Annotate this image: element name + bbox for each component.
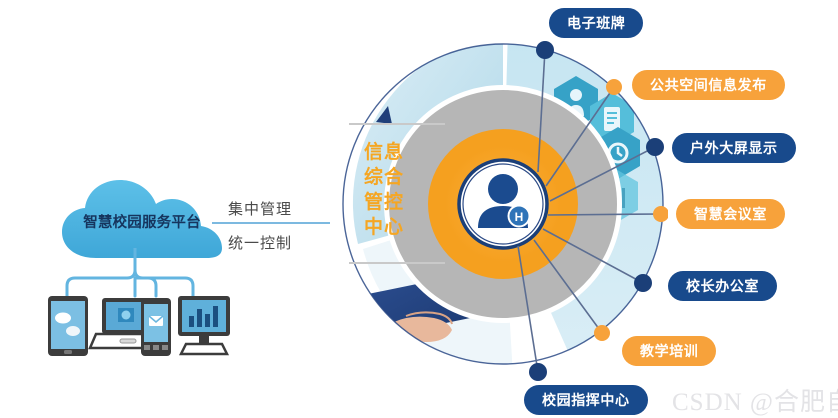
cloud-platform: 智慧校园服务平台 bbox=[52, 178, 232, 258]
management-label-top: 集中管理 bbox=[228, 198, 328, 219]
node-label-principal-office[interactable]: 校长办公室 bbox=[668, 271, 777, 301]
node-label-public-space-info-release[interactable]: 公共空间信息发布 bbox=[632, 70, 785, 100]
node-label-campus-command-center[interactable]: 校园指挥中心 bbox=[524, 385, 648, 415]
center-title-rule-bottom bbox=[349, 262, 445, 264]
center-title-line-1: 信息 bbox=[356, 140, 412, 165]
svg-text:H: H bbox=[515, 210, 524, 224]
device-group bbox=[40, 248, 240, 368]
node-label-outdoor-large-screen[interactable]: 户外大屏显示 bbox=[672, 133, 796, 163]
center-title-line-4: 中心 bbox=[356, 215, 412, 240]
management-divider-line bbox=[212, 222, 330, 224]
node-label-smart-meeting-room[interactable]: 智慧会议室 bbox=[676, 199, 785, 229]
desktop-chart-icon bbox=[178, 296, 230, 354]
center-title-rule-top bbox=[349, 123, 445, 125]
phone-mail-icon bbox=[141, 298, 171, 356]
center-title: 信息 综合 管控 中心 bbox=[356, 140, 412, 240]
csdn-watermark: CSDN @合肥自方科 bbox=[672, 382, 838, 418]
management-label-bottom: 统一控制 bbox=[228, 232, 328, 253]
center-title-line-2: 综合 bbox=[356, 165, 412, 190]
center-title-line-3: 管控 bbox=[356, 190, 412, 215]
diagram-canvas: 智慧校园服务平台 集中管理 统一控制 bbox=[0, 0, 838, 412]
node-label-teaching-training[interactable]: 教学培训 bbox=[622, 336, 716, 366]
node-label-electronic-class-board[interactable]: 电子班牌 bbox=[549, 8, 643, 38]
cloud-label: 智慧校园服务平台 bbox=[60, 211, 224, 232]
tablet-chat-icon bbox=[48, 296, 88, 356]
